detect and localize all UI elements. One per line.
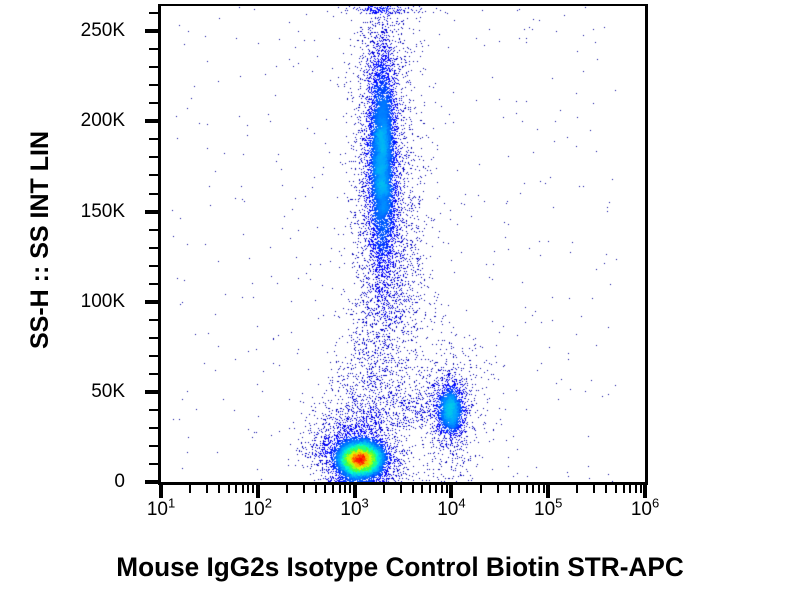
x-axis-tick-minor <box>509 485 511 493</box>
y-axis-tick-minor <box>149 337 158 339</box>
y-axis-tick-minor <box>149 66 158 68</box>
x-axis-tick-label: 103 <box>340 499 368 521</box>
y-axis-tick-minor <box>149 193 158 195</box>
x-axis-tick-minor <box>412 485 414 493</box>
x-axis-tick-minor <box>532 485 534 493</box>
x-axis-tick-label: 101 <box>147 499 175 521</box>
x-axis-tick-minor <box>629 485 631 493</box>
x-axis-tick-minor <box>623 485 625 493</box>
x-axis-tick-minor <box>286 485 288 493</box>
y-tick-label-layer: 050K100K150K200K250K <box>0 4 143 485</box>
x-axis-tick-minor <box>189 485 191 493</box>
x-axis-tick-minor <box>446 485 448 493</box>
y-tick-mark-layer <box>143 4 158 485</box>
x-axis-tick-minor <box>315 485 317 493</box>
y-axis-tick-minor <box>149 102 158 104</box>
x-axis-tick-minor <box>242 485 244 493</box>
y-axis-tick-minor <box>149 138 158 140</box>
x-axis-tick-minor <box>400 485 402 493</box>
y-axis-tick-label: 100K <box>81 291 125 313</box>
y-axis-tick-label: 50K <box>91 381 125 403</box>
y-axis-tick-minor <box>149 229 158 231</box>
y-axis-tick-major <box>145 480 158 484</box>
x-axis-tick-minor <box>235 485 237 493</box>
x-axis-tick-minor <box>576 485 578 493</box>
x-axis-tick-minor <box>605 485 607 493</box>
x-axis-tick-minor <box>349 485 351 493</box>
x-axis-tick-minor <box>429 485 431 493</box>
y-axis-tick-major <box>145 390 158 394</box>
y-axis-tick-minor <box>149 12 158 14</box>
x-axis-tick-minor <box>247 485 249 493</box>
y-axis-tick-minor <box>149 355 158 357</box>
x-axis-tick-minor <box>218 485 220 493</box>
x-axis-tick-minor <box>538 485 540 493</box>
y-axis-tick-minor <box>149 265 158 267</box>
y-axis-tick-label: 150K <box>81 201 125 223</box>
y-axis-tick-minor <box>149 409 158 411</box>
x-axis-tick-minor <box>303 485 305 493</box>
x-axis-tick-minor <box>518 485 520 493</box>
y-axis-tick-major <box>145 119 158 123</box>
y-axis-tick-minor <box>149 319 158 321</box>
y-axis-tick-label: 250K <box>81 20 125 42</box>
x-axis-tick-minor <box>526 485 528 493</box>
x-axis-tick-minor <box>421 485 423 493</box>
x-axis-tick-minor <box>339 485 341 493</box>
x-axis-tick-minor <box>441 485 443 493</box>
scatter-density-canvas <box>161 6 645 482</box>
x-axis-tick-major <box>159 485 163 498</box>
x-axis-tick-minor <box>615 485 617 493</box>
y-axis-tick-minor <box>149 84 158 86</box>
y-axis-tick-minor <box>149 463 158 465</box>
y-axis-tick-minor <box>149 247 158 249</box>
y-axis-tick-minor <box>149 373 158 375</box>
x-axis-tick-minor <box>497 485 499 493</box>
y-axis-tick-minor <box>149 283 158 285</box>
x-tick-mark-layer: 101102103104105106 <box>158 485 648 499</box>
x-axis-tick-minor <box>593 485 595 493</box>
y-axis-tick-minor <box>149 156 158 158</box>
y-axis-tick-major <box>145 300 158 304</box>
x-axis-tick-major <box>256 485 260 498</box>
x-axis-tick-minor <box>228 485 230 493</box>
x-axis-tick-label: 104 <box>437 499 465 521</box>
y-axis-tick-minor <box>149 48 158 50</box>
x-axis-title: Mouse IgG2s Isotype Control Biotin STR-A… <box>12 552 788 583</box>
x-axis-tick-label: 105 <box>534 499 562 521</box>
y-axis-tick-label: 0 <box>114 471 125 493</box>
x-axis-tick-major <box>643 485 647 498</box>
x-axis-tick-minor <box>640 485 642 493</box>
x-axis-tick-minor <box>543 485 545 493</box>
x-axis-tick-minor <box>635 485 637 493</box>
x-axis-tick-major <box>546 485 550 498</box>
y-axis-tick-minor <box>149 174 158 176</box>
y-axis-tick-major <box>145 29 158 33</box>
flow-cytometry-figure: SS-H :: SS INT LIN 050K100K150K200K250K … <box>0 0 800 600</box>
x-axis-tick-minor <box>435 485 437 493</box>
x-axis-tick-minor <box>480 485 482 493</box>
x-axis-tick-minor <box>324 485 326 493</box>
x-axis-tick-minor <box>332 485 334 493</box>
x-axis-tick-minor <box>383 485 385 493</box>
plot-area[interactable] <box>158 4 648 485</box>
x-axis-tick-major <box>449 485 453 498</box>
x-axis-tick-label: 102 <box>244 499 272 521</box>
x-axis-tick-minor <box>206 485 208 493</box>
x-axis-tick-label: 106 <box>631 499 659 521</box>
x-axis-tick-minor <box>344 485 346 493</box>
y-axis-tick-minor <box>149 427 158 429</box>
x-axis-tick-major <box>353 485 357 498</box>
y-axis-tick-minor <box>149 445 158 447</box>
y-axis-tick-label: 200K <box>81 110 125 132</box>
y-axis-tick-major <box>145 210 158 214</box>
x-axis-tick-minor <box>252 485 254 493</box>
